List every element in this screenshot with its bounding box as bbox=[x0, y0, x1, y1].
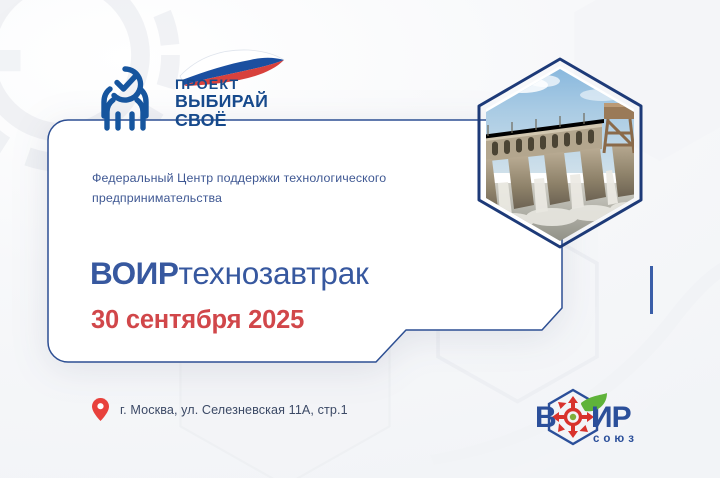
voir-wordmark: В bbox=[535, 401, 556, 434]
card-subtitle: Федеральный Центр поддержки технологичес… bbox=[92, 168, 422, 208]
hands-holding-checkmark-icon bbox=[88, 62, 162, 136]
proekt-line-2: ВЫБИРАЙ bbox=[175, 92, 268, 110]
proekt-line-3: СВОЁ bbox=[175, 111, 268, 129]
hydroelectric-dam-photo bbox=[452, 33, 668, 273]
address-row: г. Москва, ул. Селезневская 11А, стр.1 bbox=[92, 398, 348, 421]
page-title: ВОИРтехнозавтрак bbox=[90, 258, 369, 290]
proekt-wordmark-block: ПРОЕКТ ВЫБИРАЙ СВОЁ bbox=[174, 52, 286, 136]
headline-bold: ВОИР bbox=[90, 255, 179, 291]
voir-soyuz-logo: В ИР союз bbox=[531, 387, 671, 447]
svg-text:ИР: ИР bbox=[591, 401, 631, 434]
voir-subword: союз bbox=[593, 433, 638, 445]
banner-canvas: Федеральный Центр поддержки технологичес… bbox=[0, 0, 720, 478]
connector-line-bottom bbox=[650, 266, 653, 314]
map-pin-icon bbox=[92, 398, 109, 421]
partner-logo: ПРОЕКТ ВЫБИРАЙ СВОЁ bbox=[88, 52, 286, 136]
address-text: г. Москва, ул. Селезневская 11А, стр.1 bbox=[120, 403, 348, 417]
event-date: 30 сентября 2025 bbox=[91, 308, 304, 334]
headline-light: технозавтрак bbox=[179, 255, 369, 291]
